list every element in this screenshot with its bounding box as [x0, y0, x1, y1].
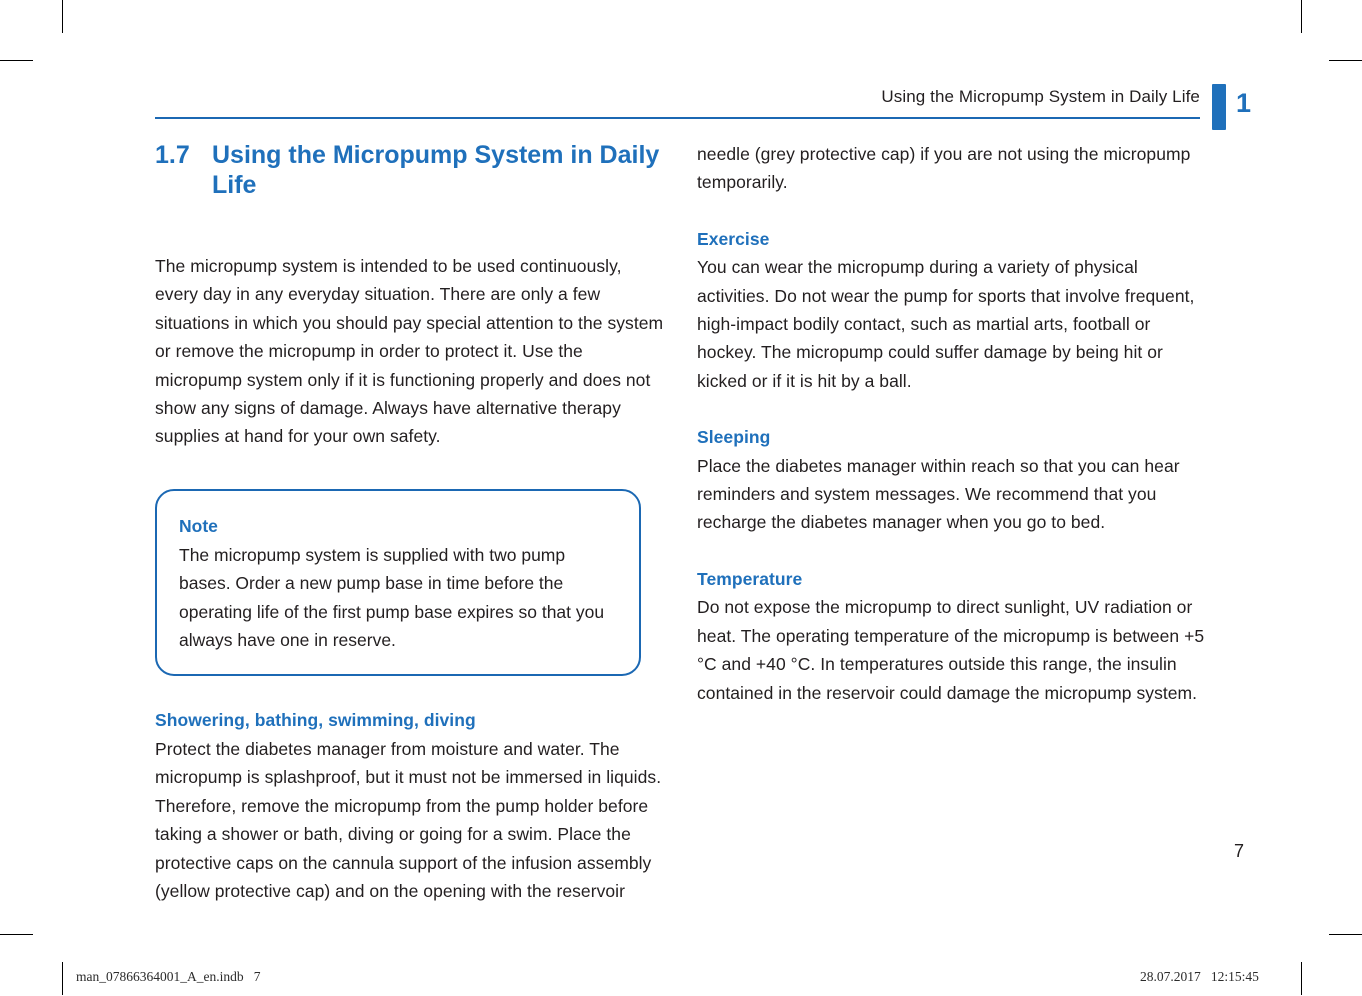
slug-datetime: 28.07.2017 12:15:45	[1140, 968, 1259, 986]
paragraph-showering: Protect the diabetes manager from moistu…	[155, 735, 665, 905]
paragraph-exercise: You can wear the micropump during a vari…	[697, 253, 1207, 395]
chapter-tab-bar	[1212, 84, 1226, 130]
crop-mark-top-right-horizontal	[1329, 60, 1362, 61]
page-number: 7	[1234, 840, 1244, 862]
note-body: The micropump system is supplied with tw…	[179, 541, 617, 655]
spacer-before-sleeping	[697, 395, 1207, 423]
intro-paragraph: The micropump system is intended to be u…	[155, 252, 665, 451]
running-header-title: Using the Micropump System in Daily Life	[155, 86, 1200, 108]
running-header: Using the Micropump System in Daily Life	[155, 86, 1200, 108]
section-heading: 1.7 Using the Micropump System in Daily …	[155, 140, 665, 200]
section-title: Using the Micropump System in Daily Life	[212, 140, 665, 200]
crop-mark-bottom-right-vertical	[1301, 962, 1302, 995]
paragraph-showering-continuation: needle (grey protective cap) if you are …	[697, 140, 1207, 197]
subheading-temperature: Temperature	[697, 565, 1207, 593]
spacer-before-temperature	[697, 537, 1207, 565]
paragraph-sleeping: Place the diabetes manager within reach …	[697, 452, 1207, 537]
section-number: 1.7	[155, 140, 212, 200]
chapter-number: 1	[1236, 88, 1251, 118]
crop-mark-top-left-vertical	[62, 0, 63, 33]
slug-filename: man_07866364001_A_en.indb 7	[76, 968, 261, 986]
crop-mark-bottom-right-horizontal	[1329, 934, 1362, 935]
header-rule	[155, 117, 1200, 119]
note-title: Note	[179, 513, 617, 540]
crop-mark-bottom-left-horizontal	[0, 934, 33, 935]
left-column: 1.7 Using the Micropump System in Daily …	[155, 140, 665, 905]
spacer-after-heading	[155, 200, 665, 252]
subheading-showering: Showering, bathing, swimming, diving	[155, 706, 665, 734]
subheading-exercise: Exercise	[697, 225, 1207, 253]
subheading-sleeping: Sleeping	[697, 423, 1207, 451]
printed-page: Using the Micropump System in Daily Life…	[0, 0, 1362, 996]
paragraph-temperature: Do not expose the micropump to direct su…	[697, 593, 1207, 707]
crop-mark-top-left-horizontal	[0, 60, 33, 61]
right-column: needle (grey protective cap) if you are …	[697, 140, 1207, 707]
spacer-before-exercise	[697, 197, 1207, 225]
crop-mark-bottom-left-vertical	[62, 962, 63, 995]
crop-mark-top-right-vertical	[1301, 0, 1302, 33]
note-box: Note The micropump system is supplied wi…	[155, 489, 641, 677]
spacer-after-note	[155, 676, 665, 706]
